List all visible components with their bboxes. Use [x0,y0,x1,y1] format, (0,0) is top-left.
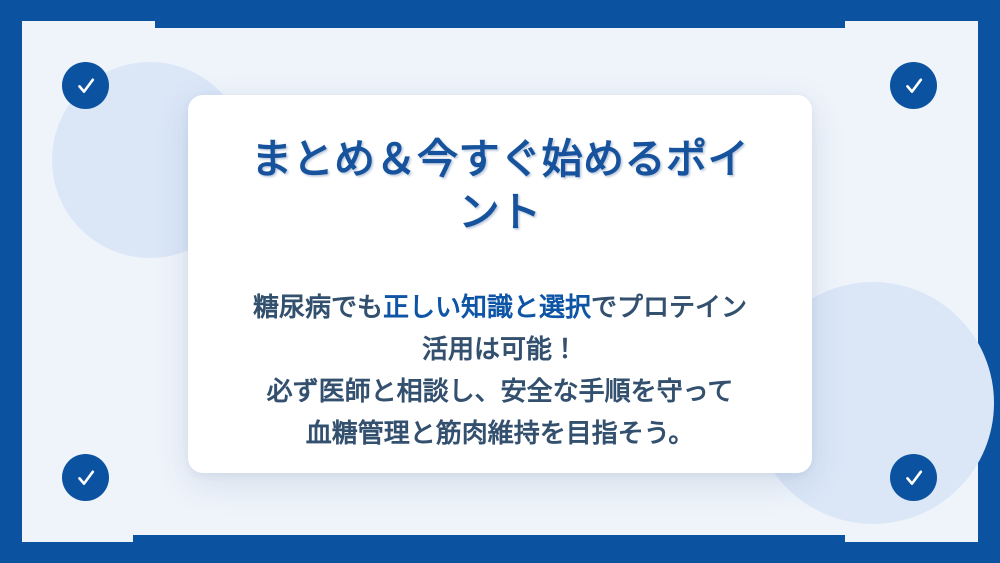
frame-band-top-right [845,0,1000,21]
frame-band-bottom-middle [133,535,845,563]
body-line-1-suffix: でプロテイン [591,292,747,322]
check-icon [902,466,926,490]
check-icon [74,466,98,490]
check-badge-bottom-right [890,454,937,501]
slide-body: 糖尿病でも正しい知識と選択でプロテイン 活用は可能！ 必ず医師と相談し、安全な手… [234,286,766,454]
frame-band-left-top [0,0,22,152]
body-line-4: 血糖管理と筋肉維持を目指そう。 [234,412,766,454]
content-card: まとめ＆今すぐ始めるポイント 糖尿病でも正しい知識と選択でプロテイン 活用は可能… [188,95,812,473]
frame-band-top-middle [155,0,845,28]
frame-band-right-top [978,0,1000,152]
frame-band-bottom-right [845,542,1000,563]
body-line-2: 活用は可能！ [234,328,766,370]
body-line-1: 糖尿病でも正しい知識と選択でプロテイン [234,286,766,328]
slide-title-line-2: ト [500,189,542,235]
check-icon [902,74,926,98]
frame-band-top-left [0,0,155,21]
check-badge-bottom-left [62,454,109,501]
check-badge-top-right [890,62,937,109]
body-line-1-prefix: 糖尿病でも [253,292,383,322]
frame-band-left-bottom [0,405,22,563]
body-line-1-emphasis: 正しい知識と選択 [383,292,591,322]
check-badge-top-left [62,62,109,109]
slide-root: まとめ＆今すぐ始めるポイント 糖尿病でも正しい知識と選択でプロテイン 活用は可能… [0,0,1000,563]
body-line-3: 必ず医師と相談し、安全な手順を守って [234,370,766,412]
check-icon [74,74,98,98]
slide-title: まとめ＆今すぐ始めるポイント [234,133,766,240]
